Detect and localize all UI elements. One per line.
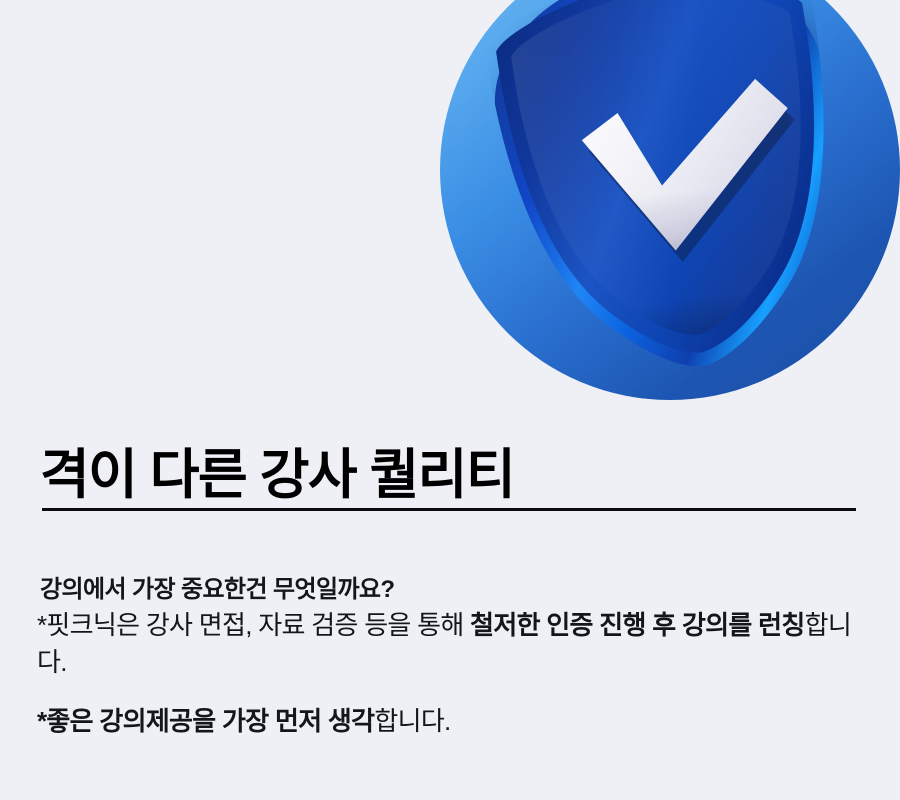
- hero-graphic: [430, 0, 900, 440]
- body-paragraph-2: *좋은 강의제공을 가장 먼저 생각합니다.: [37, 703, 867, 740]
- body-copy: *핏크닉은 강사 면접, 자료 검증 등을 통해 철저한 인증 진행 후 강의를…: [37, 607, 867, 740]
- body-paragraph-1: *핏크닉은 강사 면접, 자료 검증 등을 통해 철저한 인증 진행 후 강의를…: [37, 607, 867, 681]
- paragraph-1-part-1: *핏크닉은 강사 면접, 자료 검증 등을 통해: [37, 610, 470, 640]
- checkmark-icon: [549, 70, 804, 270]
- paragraph-2-part-2: 합니다.: [374, 706, 450, 736]
- page-title: 격이 다른 강사 퀄리티: [40, 448, 514, 502]
- section-subtitle: 강의에서 가장 중요한건 무엇일까요?: [40, 569, 394, 604]
- paragraph-1-emphasis: 철저한 인증 진행 후 강의를 런칭: [470, 610, 804, 640]
- divider: [42, 508, 856, 511]
- paragraph-2-emphasis: *좋은 강의제공을 가장 먼저 생각: [37, 706, 374, 736]
- checkmark-edge: [549, 70, 804, 270]
- shield-check-icon: [477, 0, 879, 412]
- promo-page: 격이 다른 강사 퀄리티 강의에서 가장 중요한건 무엇일까요? *핏크닉은 강…: [0, 0, 900, 800]
